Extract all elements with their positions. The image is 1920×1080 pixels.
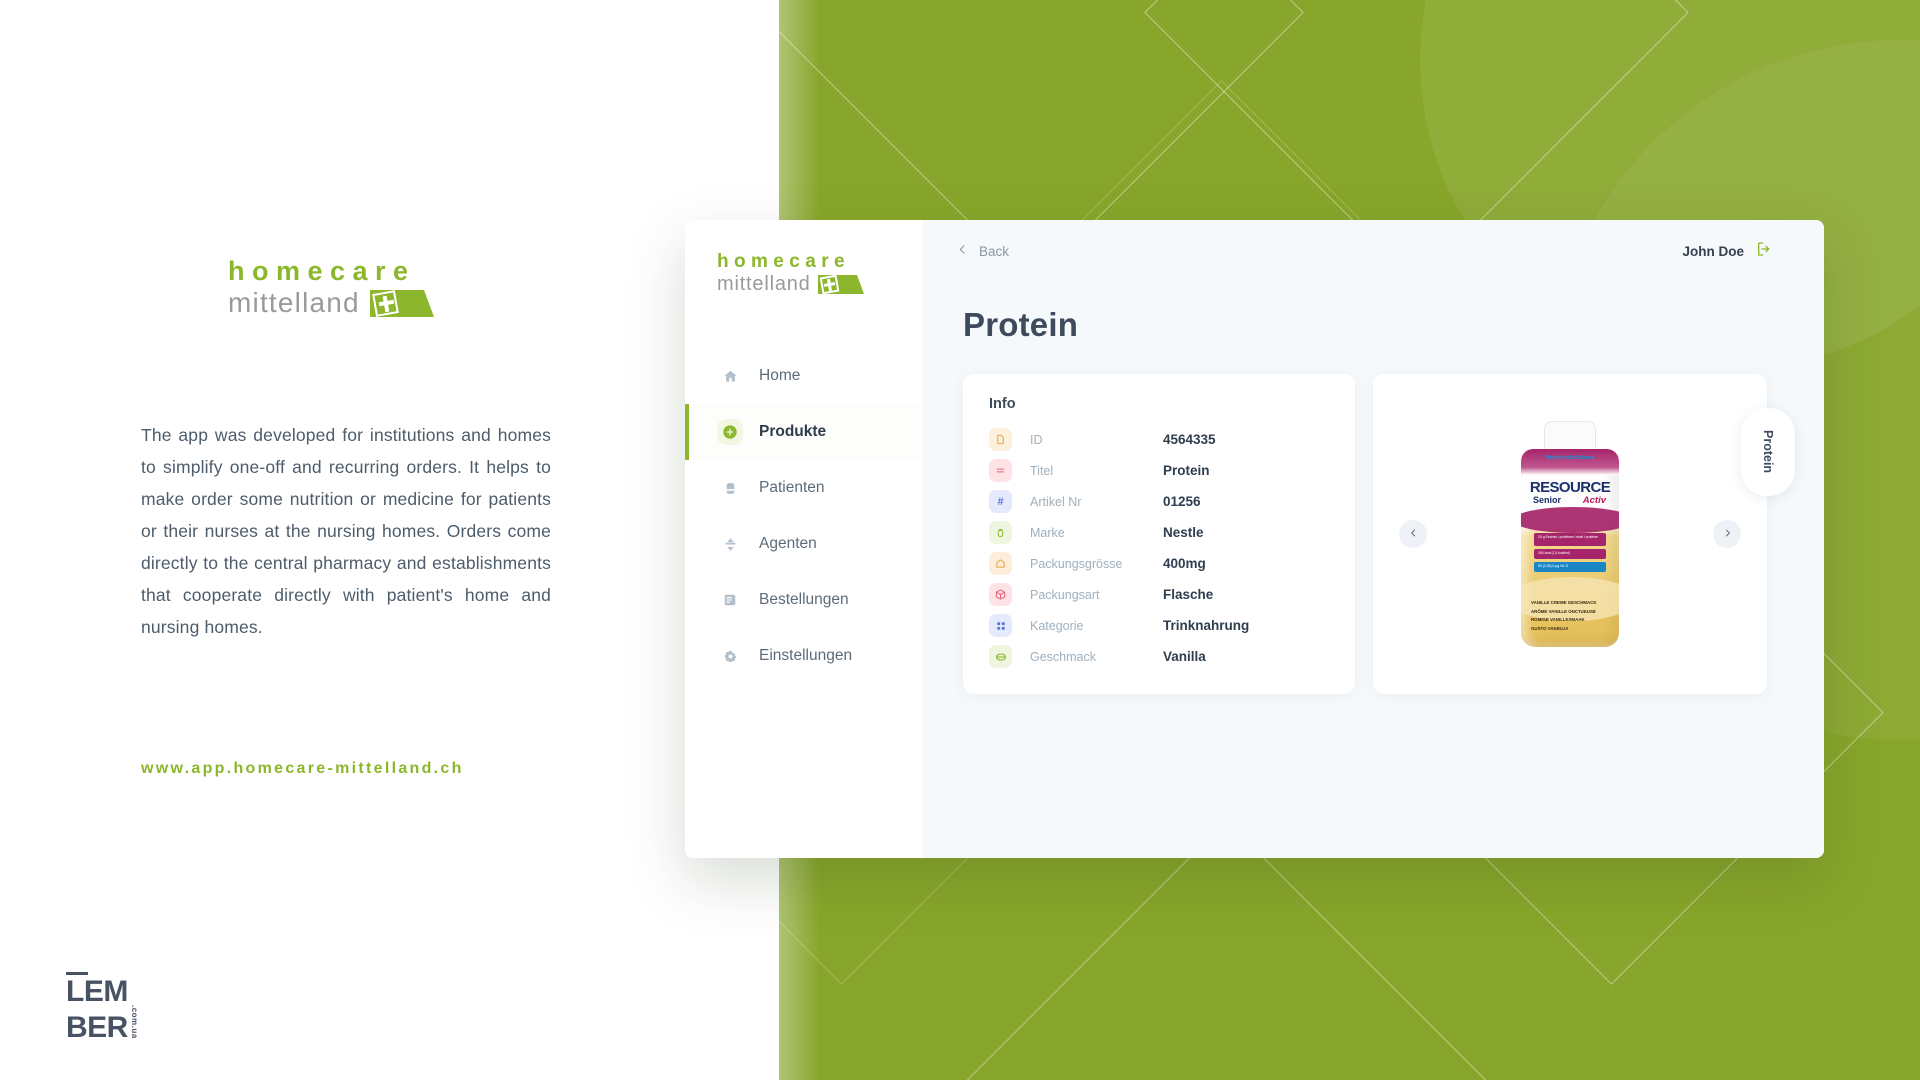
- sidebar-item-home[interactable]: Home: [685, 348, 923, 404]
- gear-icon: [717, 643, 743, 669]
- sidebar-item-agenten[interactable]: Agenten: [685, 516, 923, 572]
- sidebar-item-label: Patienten: [759, 479, 825, 497]
- info-row-label: Geschmack: [1030, 650, 1163, 664]
- info-row-label: Packungsart: [1030, 588, 1163, 602]
- app-window: homecare mittelland Home: [685, 220, 1824, 858]
- sidebar: homecare mittelland Home: [685, 220, 923, 858]
- info-card-title: Info: [963, 396, 1355, 412]
- chevron-right-icon: [1723, 527, 1732, 542]
- info-row-label: Artikel Nr: [1030, 495, 1163, 509]
- swiss-cross-badge-icon: [370, 290, 434, 317]
- product-image-card: NestléHealthScience RESOURCE Senior Acti…: [1373, 374, 1767, 694]
- logout-icon[interactable]: [1756, 241, 1772, 262]
- sidebar-logo[interactable]: homecare mittelland: [685, 220, 923, 294]
- info-row-value: 4564335: [1163, 432, 1216, 447]
- homecare-logo-top: homecare: [228, 258, 434, 285]
- title-icon: [989, 459, 1012, 482]
- page-title: Protein: [963, 306, 1824, 344]
- product-nutrition-bar: 50 (2,35) 5 µg Vit. D: [1534, 562, 1606, 572]
- next-image-button[interactable]: [1713, 520, 1741, 548]
- project-description: The app was developed for institutions a…: [141, 419, 551, 643]
- product-flavor-text: VANILLE CREME GESCHMACK ARÔME VANILLE ON…: [1531, 599, 1611, 633]
- sidebar-item-patienten[interactable]: Patienten: [685, 460, 923, 516]
- info-row-label: Marke: [1030, 526, 1163, 540]
- plus-circle-icon: [717, 419, 743, 445]
- chevron-left-icon: [957, 242, 968, 260]
- info-row-label: Titel: [1030, 464, 1163, 478]
- product-line-left: Senior: [1533, 495, 1561, 505]
- info-row-label: Kategorie: [1030, 619, 1163, 633]
- flavor-line: VANILLE CREME GESCHMACK: [1531, 599, 1611, 608]
- chevron-left-icon: [1409, 527, 1418, 542]
- home-icon: [717, 363, 743, 389]
- box-icon: [989, 583, 1012, 606]
- user-name: John Doe: [1682, 244, 1744, 259]
- product-variant-tab[interactable]: Protein: [1741, 408, 1795, 496]
- taste-icon: [989, 645, 1012, 668]
- product-nutrition-bar: 20 g Eiweiss / protéines / eiwit / prote…: [1534, 533, 1606, 546]
- info-row: Titel Protein: [963, 455, 1355, 486]
- package-icon: [989, 552, 1012, 575]
- info-row: Packungsart Flasche: [963, 579, 1355, 610]
- info-row: # Artikel Nr 01256: [963, 486, 1355, 517]
- main-content: Back John Doe Protein Info: [923, 220, 1824, 858]
- product-line-right: Activ: [1583, 495, 1606, 506]
- list-icon: [717, 587, 743, 613]
- info-row-value: 01256: [1163, 494, 1201, 509]
- bottle-body: NestléHealthScience RESOURCE Senior Acti…: [1521, 449, 1619, 647]
- lemberg-line-2: BER: [66, 1014, 128, 1041]
- sidebar-item-produkte[interactable]: Produkte: [685, 404, 923, 460]
- info-row: ID 4564335: [963, 424, 1355, 455]
- flavor-line: GUSTO VANIGLIA: [1531, 625, 1611, 634]
- back-label: Back: [979, 244, 1009, 259]
- bottle-icon: [989, 521, 1012, 544]
- info-row-label: Packungsgrösse: [1030, 557, 1163, 571]
- info-row-value: Nestle: [1163, 525, 1204, 540]
- lemberg-domain: .com.ua: [130, 1005, 139, 1039]
- grid-icon: [989, 614, 1012, 637]
- homecare-logo: homecare mittelland: [228, 258, 434, 317]
- info-row: Packungsgrösse 400mg: [963, 548, 1355, 579]
- info-row: Geschmack Vanilla: [963, 641, 1355, 672]
- cards-row: Info ID 4564335 Titel Protein: [923, 344, 1824, 694]
- sidebar-item-label: Agenten: [759, 535, 817, 553]
- product-nutrition-bar: 300 kcal (1,5 kcal/ml): [1534, 549, 1606, 559]
- product-image: NestléHealthScience RESOURCE Senior Acti…: [1521, 421, 1619, 647]
- lemberg-studio-logo: LEM BER .com.ua: [66, 972, 186, 1042]
- sidebar-item-label: Einstellungen: [759, 647, 852, 665]
- sidebar-item-label: Bestellungen: [759, 591, 849, 609]
- info-row-value: Flasche: [1163, 587, 1213, 602]
- product-brand-name: RESOURCE: [1521, 479, 1619, 496]
- info-row-value: Protein: [1163, 463, 1210, 478]
- info-row-value: 400mg: [1163, 556, 1206, 571]
- agent-icon: [717, 531, 743, 557]
- pill-icon: [717, 475, 743, 501]
- user-menu[interactable]: John Doe: [1682, 241, 1772, 262]
- sidebar-logo-top: homecare: [717, 252, 923, 271]
- sidebar-item-einstellungen[interactable]: Einstellungen: [685, 628, 923, 684]
- info-row: Kategorie Trinknahrung: [963, 610, 1355, 641]
- info-row-value: Vanilla: [1163, 649, 1206, 664]
- sidebar-logo-bottom: mittelland: [717, 274, 811, 294]
- screenshot-root: homecare mittelland The app was develope…: [0, 0, 1920, 1080]
- back-button[interactable]: Back: [957, 242, 1009, 260]
- info-row-value: Trinknahrung: [1163, 618, 1249, 633]
- flavor-line: ROMIGE VANILLESMAAK: [1531, 616, 1611, 625]
- sidebar-item-label: Home: [759, 367, 800, 385]
- lemberg-line-1: LEM: [66, 978, 186, 1005]
- sidebar-nav: Home Produkte Patienten: [685, 348, 923, 684]
- swiss-cross-badge-icon: [818, 275, 864, 294]
- hash-icon: #: [989, 490, 1012, 513]
- sidebar-item-label: Produkte: [759, 423, 826, 441]
- sidebar-item-bestellungen[interactable]: Bestellungen: [685, 572, 923, 628]
- project-url[interactable]: www.app.homecare-mittelland.ch: [141, 760, 464, 778]
- background-diamond: [954, 820, 1498, 1080]
- left-info-column: homecare mittelland The app was develope…: [0, 0, 700, 1080]
- topbar: Back John Doe: [923, 220, 1824, 282]
- previous-image-button[interactable]: [1399, 520, 1427, 548]
- homecare-logo-bottom: mittelland: [228, 289, 360, 317]
- info-row-label: ID: [1030, 433, 1163, 447]
- product-variant-label: Protein: [1761, 430, 1775, 473]
- product-manufacturer: NestléHealthScience: [1521, 455, 1619, 461]
- document-icon: [989, 428, 1012, 451]
- flavor-line: ARÔME VANILLE ONCTUEUSE: [1531, 608, 1611, 617]
- info-row: Marke Nestle: [963, 517, 1355, 548]
- info-card: Info ID 4564335 Titel Protein: [963, 374, 1355, 694]
